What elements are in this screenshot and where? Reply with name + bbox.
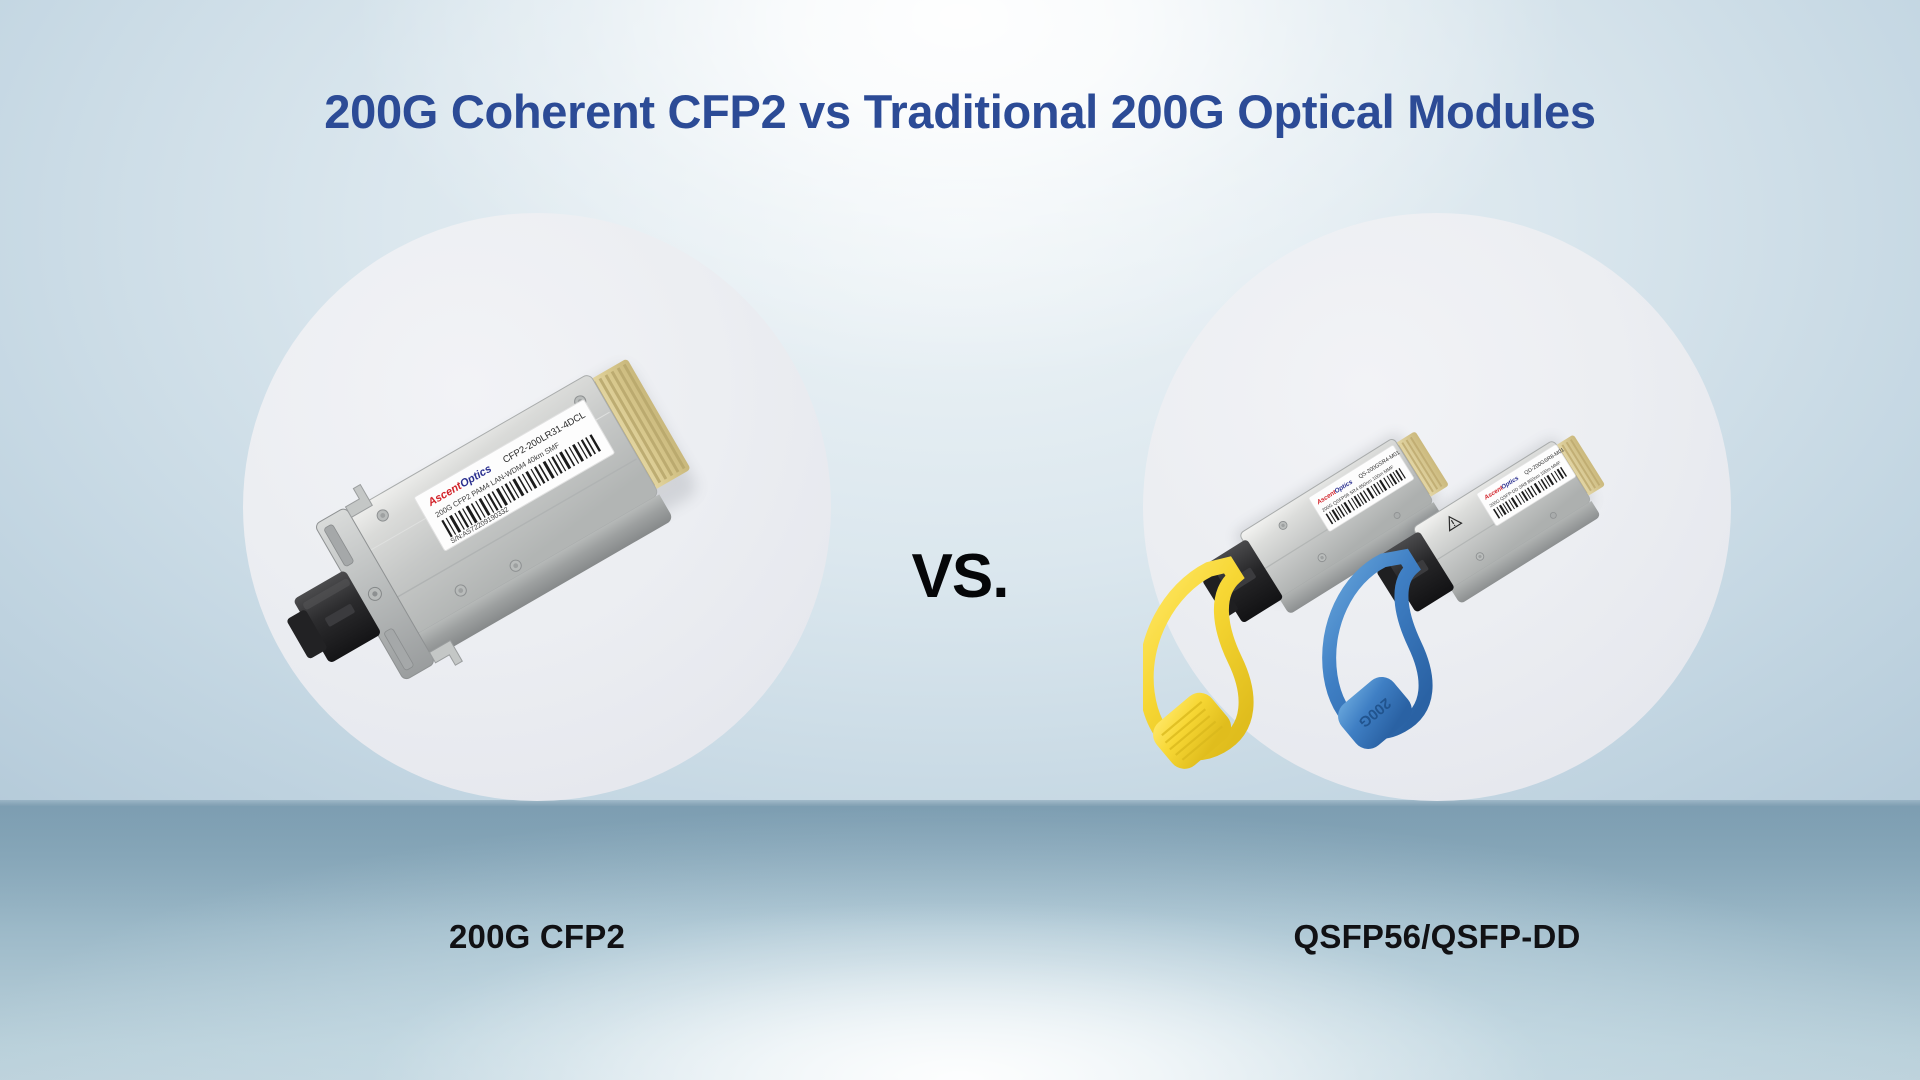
page-title: 200G Coherent CFP2 vs Traditional 200G O… xyxy=(0,84,1920,139)
versus-label: VS. xyxy=(0,541,1920,612)
left-caption: 200G CFP2 xyxy=(243,918,831,956)
comparison-item-cfp2: Ascent Optics CFP2-200LR31-4DCL 200G CFP… xyxy=(243,213,831,801)
qsfp-modules-image: Ascent Optics QS-200GSR4-M01 200G QSFP56… xyxy=(1143,213,1731,801)
right-caption: QSFP56/QSFP-DD xyxy=(1143,918,1731,956)
cfp2-module-image: Ascent Optics CFP2-200LR31-4DCL 200G CFP… xyxy=(243,213,831,801)
backdrop-floor-sheen xyxy=(0,806,1920,926)
comparison-item-qsfp: Ascent Optics QS-200GSR4-M01 200G QSFP56… xyxy=(1143,213,1731,801)
